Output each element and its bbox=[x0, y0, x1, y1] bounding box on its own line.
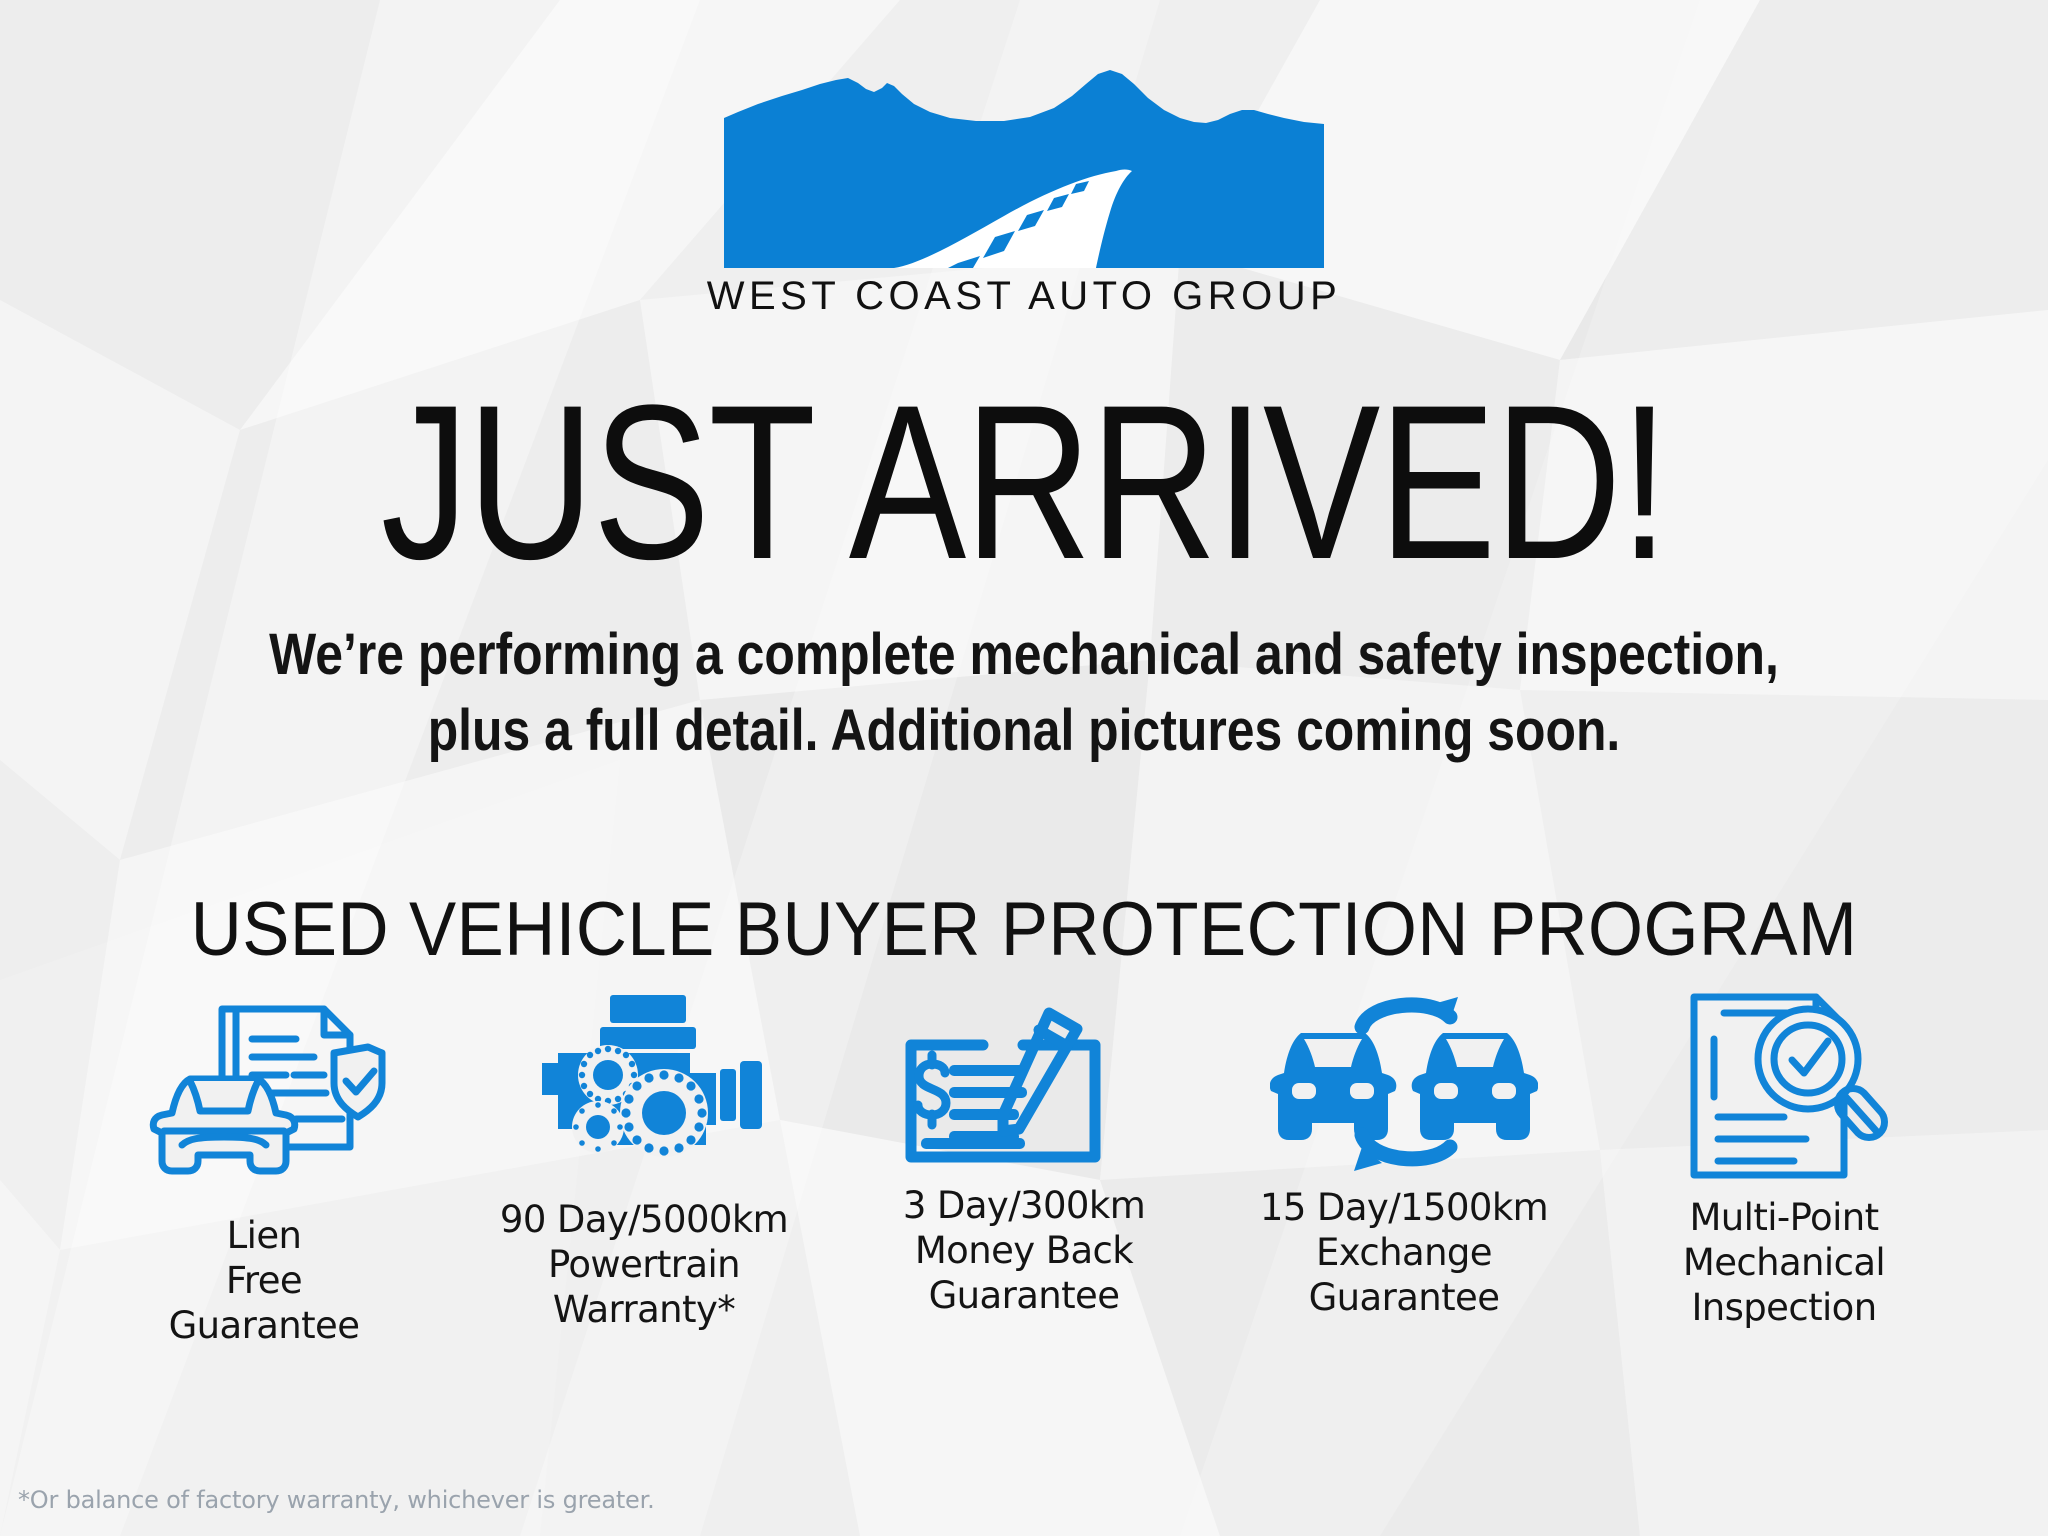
benefit-caption: 15 Day/1500km Exchange Guarantee bbox=[1260, 1185, 1548, 1320]
hero-subtitle: We’re performing a complete mechanical a… bbox=[267, 617, 1781, 768]
benefit-money-back-guarantee: 3 Day/300km Money Back Guarantee bbox=[844, 999, 1204, 1318]
benefit-caption: 3 Day/300km Money Back Guarantee bbox=[903, 1183, 1145, 1318]
document-magnifier-check-icon bbox=[1666, 993, 1902, 1183]
program-heading: USED VEHICLE BUYER PROTECTION PROGRAM bbox=[191, 886, 1858, 973]
benefit-exchange-guarantee: 15 Day/1500km Exchange Guarantee bbox=[1224, 995, 1584, 1320]
brand-wordmark: WEST COAST AUTO GROUP bbox=[707, 274, 1342, 319]
hero-subtitle-line-1: We’re performing a complete mechanical a… bbox=[267, 617, 1781, 692]
cheque-pencil-icon bbox=[899, 999, 1149, 1171]
mountain-road-logo-icon bbox=[724, 52, 1324, 268]
benefits-row: Lien Free Guarantee bbox=[84, 995, 1964, 1348]
benefit-caption: Multi-Point Mechanical Inspection bbox=[1683, 1195, 1885, 1330]
car-document-shield-check-icon bbox=[136, 1005, 392, 1201]
engine-icon bbox=[514, 995, 774, 1185]
hero-subtitle-line-2: plus a full detail. Additional pictures … bbox=[267, 693, 1781, 768]
benefit-caption: 90 Day/5000km Powertrain Warranty* bbox=[500, 1197, 788, 1332]
brand-logo: WEST COAST AUTO GROUP bbox=[724, 52, 1324, 319]
two-cars-exchange-arrows-icon bbox=[1270, 995, 1538, 1173]
page-title: JUST ARRIVED! bbox=[381, 381, 1667, 583]
benefit-caption: Lien Free Guarantee bbox=[169, 1213, 360, 1348]
benefit-multipoint-inspection: Multi-Point Mechanical Inspection bbox=[1604, 993, 1964, 1330]
benefit-powertrain-warranty: 90 Day/5000km Powertrain Warranty* bbox=[464, 995, 824, 1332]
warranty-footnote: *Or balance of factory warranty, whichev… bbox=[18, 1486, 655, 1514]
benefit-lien-free-guarantee: Lien Free Guarantee bbox=[84, 1005, 444, 1348]
